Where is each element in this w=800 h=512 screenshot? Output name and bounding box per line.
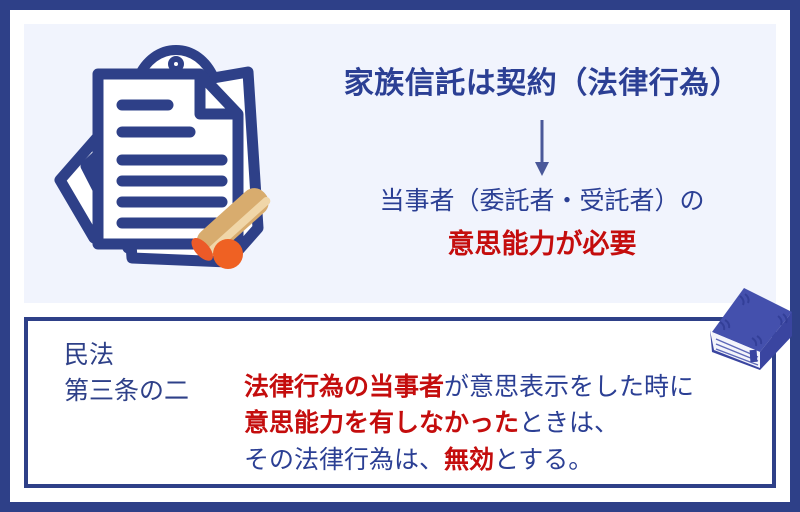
law-citation-box: 民法 第三条の二 法律行為の当事者が意思表示をした時に意思能力を有しなかったとき… — [24, 317, 776, 488]
law-text-emphasis: 意思能力を有しなかった — [244, 409, 519, 437]
law-text-emphasis: 法律行為の当事者 — [244, 373, 444, 401]
contract-documents-with-seal-icon — [42, 32, 312, 297]
law-article-text: 法律行為の当事者が意思表示をした時に意思能力を有しなかったときは、その法律行為は… — [244, 369, 760, 478]
sub-line-parties: 当事者（委託者・受託者）の — [316, 186, 768, 217]
headline: 家族信託は契約（法律行為） — [316, 66, 768, 102]
law-reference-line-1: 民法 — [64, 337, 189, 373]
law-text-emphasis: 無効 — [444, 446, 494, 474]
law-text-plain: が意思表示をした時に — [444, 373, 694, 401]
infographic-root: 家族信託は契約（法律行為） 当事者（委託者・受託者）の 意思能力が必要 民法 第… — [0, 0, 800, 512]
upper-text-block: 家族信託は契約（法律行為） 当事者（委託者・受託者）の 意思能力が必要 — [316, 24, 776, 303]
sub-line-capacity-required: 意思能力が必要 — [316, 228, 768, 262]
down-arrow-icon — [532, 120, 552, 178]
law-article-line: その法律行為は、無効とする。 — [244, 442, 760, 478]
upper-panel: 家族信託は契約（法律行為） 当事者（委託者・受託者）の 意思能力が必要 — [24, 24, 776, 303]
law-reference-label: 民法 第三条の二 — [64, 337, 189, 410]
law-article-line: 意思能力を有しなかったときは、 — [244, 405, 760, 441]
law-text-plain: ときは、 — [519, 409, 619, 437]
law-reference-line-2: 第三条の二 — [64, 373, 189, 409]
arrow-wrapper — [316, 120, 768, 178]
law-text-plain: とする。 — [494, 446, 593, 474]
law-book-icon — [700, 282, 796, 374]
law-text-plain: その法律行為は、 — [244, 446, 444, 474]
law-article-line: 法律行為の当事者が意思表示をした時に — [244, 369, 760, 405]
